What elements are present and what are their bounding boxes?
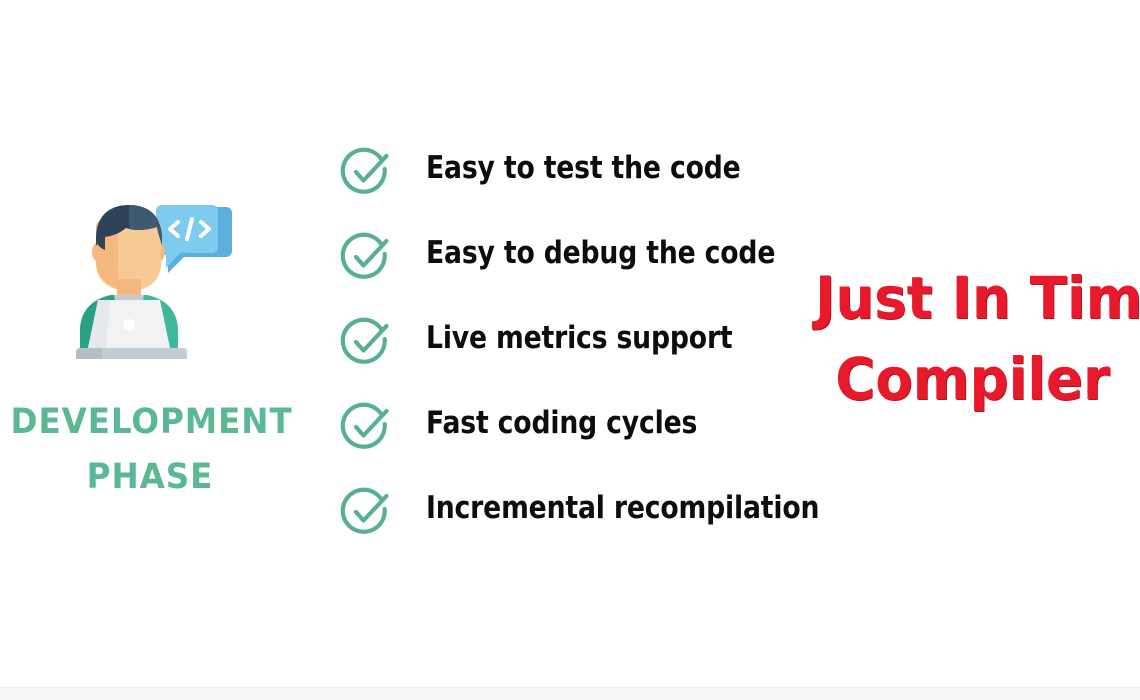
list-item: Live metrics support — [336, 308, 806, 393]
check-circle-icon — [336, 311, 396, 371]
check-circle-icon — [336, 226, 396, 286]
check-circle-icon — [336, 396, 396, 456]
list-item: Fast coding cycles — [336, 393, 806, 478]
list-item-label: Easy to test the code — [426, 138, 741, 198]
check-circle-icon — [336, 141, 396, 201]
list-item: Easy to test the code — [336, 138, 806, 223]
heading-line-1: Just In Time — [815, 258, 1130, 339]
list-item-label: Fast coding cycles — [426, 393, 697, 453]
caption-line-2: PHASE — [11, 450, 290, 505]
development-phase-caption: DEVELOPMENT PHASE — [11, 395, 290, 505]
bottom-strip — [0, 687, 1140, 700]
check-circle-icon — [336, 481, 396, 541]
list-item: Incremental recompilation — [336, 478, 806, 563]
slide-canvas: DEVELOPMENT PHASE Easy to test the code … — [0, 0, 1140, 699]
caption-line-1: DEVELOPMENT — [11, 395, 290, 450]
list-item-label: Incremental recompilation — [426, 478, 819, 538]
developer-illustration — [62, 195, 238, 365]
jit-compiler-heading: Just In Time Compiler — [815, 258, 1130, 420]
list-item-label: Easy to debug the code — [426, 223, 775, 283]
list-item: Easy to debug the code — [336, 223, 806, 308]
heading-line-2: Compiler — [815, 339, 1130, 420]
list-item-label: Live metrics support — [426, 308, 732, 368]
feature-list: Easy to test the code Easy to debug the … — [336, 138, 806, 563]
development-phase-block: DEVELOPMENT PHASE — [0, 190, 300, 520]
